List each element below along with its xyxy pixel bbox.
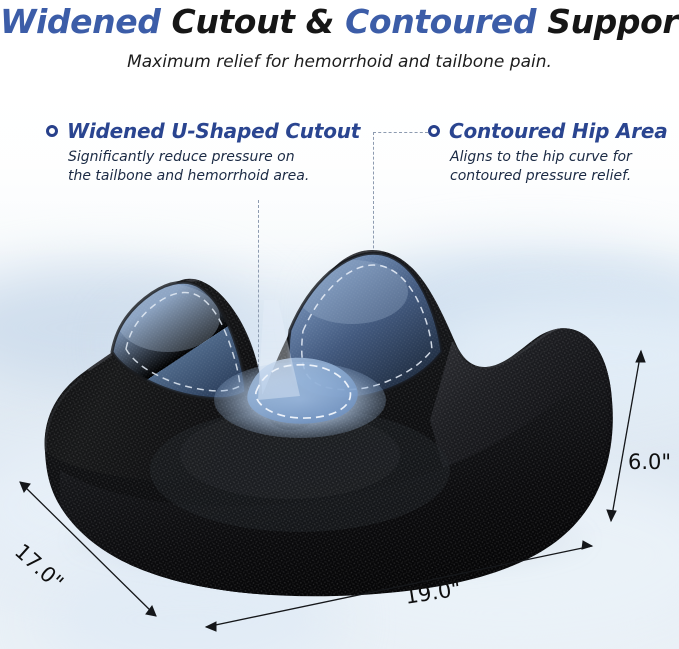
product-infographic: Widened Cutout & Contoured Support Maxim… — [0, 0, 679, 649]
dimension-arrow-height — [607, 351, 645, 521]
seat-cushion-svg — [0, 0, 679, 649]
product-illustration — [0, 0, 679, 649]
dimension-label-height: 6.0" — [628, 450, 671, 474]
